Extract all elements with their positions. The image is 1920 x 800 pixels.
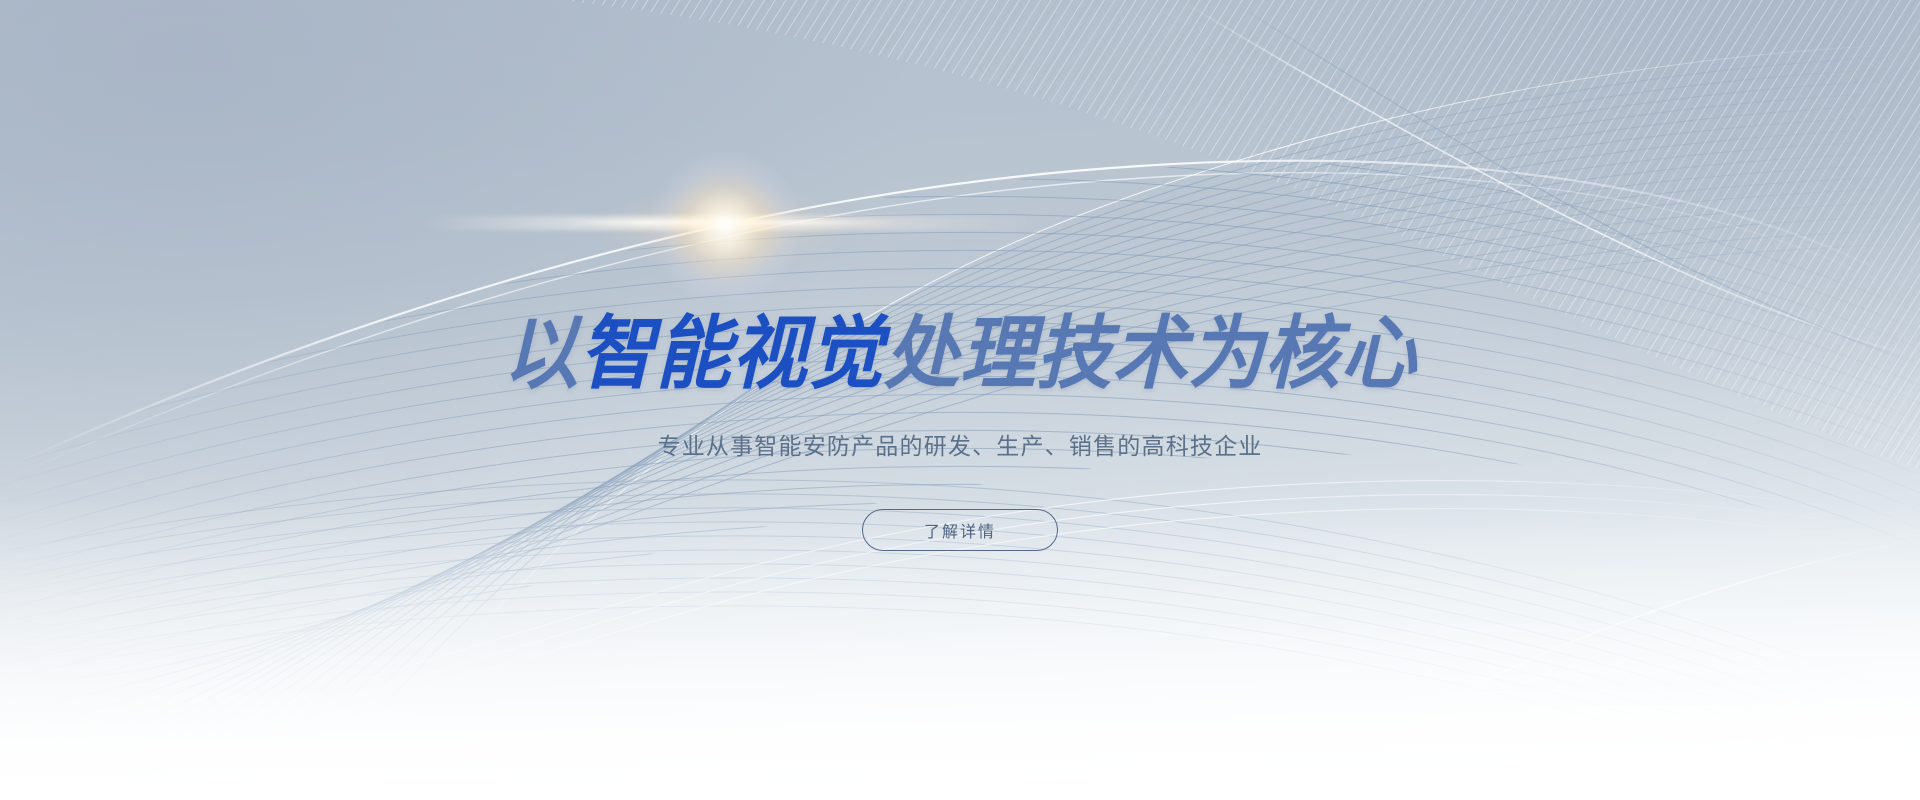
hero-banner: 以智能视觉处理技术为核心 专业从事智能安防产品的研发、生产、销售的高科技企业 了… bbox=[0, 0, 1920, 800]
headline-accent: 智能视觉 bbox=[579, 309, 884, 398]
cta-container: 了解详情 bbox=[0, 509, 1920, 551]
hero-subtitle: 专业从事智能安防产品的研发、生产、销售的高科技企业 bbox=[0, 429, 1920, 463]
learn-more-button[interactable]: 了解详情 bbox=[862, 509, 1058, 551]
headline-tail: 处理技术为核心 bbox=[884, 309, 1417, 398]
page-title: 以智能视觉处理技术为核心 bbox=[58, 312, 1863, 396]
hero-content: 以智能视觉处理技术为核心 专业从事智能安防产品的研发、生产、销售的高科技企业 了… bbox=[0, 0, 1920, 800]
headline-lead: 以 bbox=[503, 309, 579, 398]
